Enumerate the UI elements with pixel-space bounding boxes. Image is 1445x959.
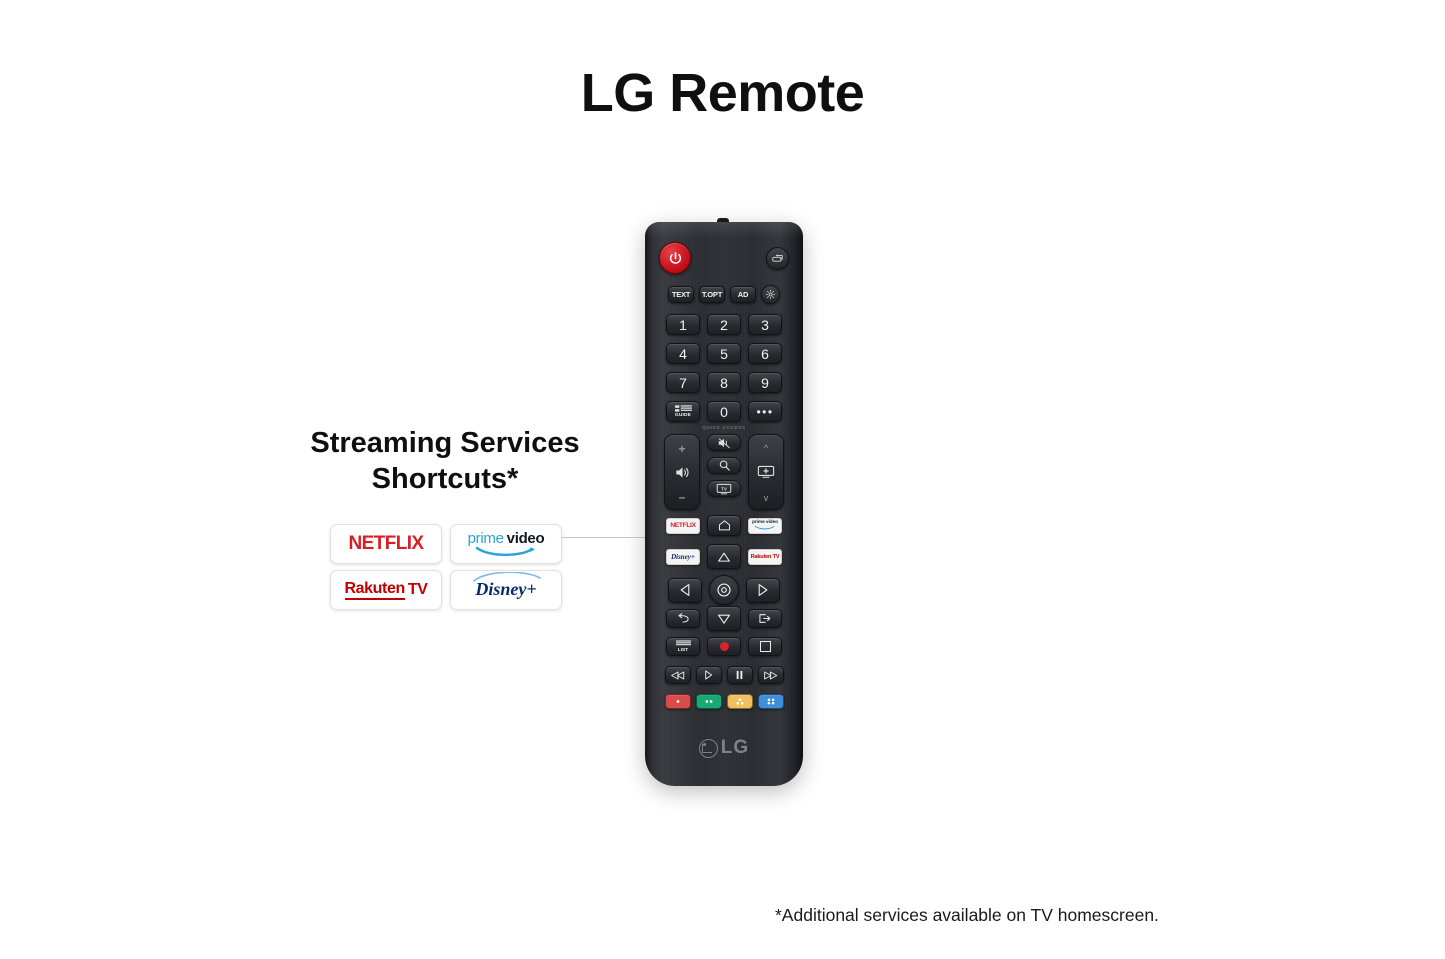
channel-tv-plus-icon [757, 465, 775, 479]
exit-button[interactable] [748, 609, 782, 628]
input-source-icon [771, 253, 784, 264]
rakuten-tv-word: TV [408, 581, 428, 599]
connector-line [561, 537, 649, 538]
channel-down-chevron-icon: v [764, 493, 769, 503]
volume-down-label: – [679, 490, 686, 504]
one-dot-icon [671, 697, 685, 706]
red-button[interactable] [665, 694, 691, 709]
nav-left-button[interactable] [668, 578, 702, 603]
two-dot-icon [702, 697, 716, 706]
guide-icon [675, 405, 692, 412]
lg-brandmark: LG [645, 737, 803, 759]
page-title: LG Remote [0, 62, 1445, 124]
pause-button[interactable] [727, 666, 753, 684]
digit-0[interactable]: 0 [707, 401, 741, 422]
list-label: LIST [678, 648, 688, 653]
ad-button[interactable]: AD [730, 286, 756, 303]
amazon-smile-icon [475, 546, 537, 557]
svg-text:TV: TV [721, 486, 728, 491]
nav-down-button[interactable] [707, 606, 741, 631]
home-button[interactable] [707, 515, 741, 536]
record-button[interactable] [707, 637, 741, 656]
digit-5[interactable]: 5 [707, 343, 741, 364]
prime-video-wordmark: prime video [468, 531, 545, 557]
pause-icon [735, 670, 744, 680]
annotation-heading: Streaming Services Shortcuts* [300, 425, 590, 498]
blue-button[interactable] [758, 694, 784, 709]
topt-button[interactable]: T.OPT [699, 286, 725, 303]
mute-icon [717, 437, 731, 449]
disney-plus-shortcut[interactable]: Disney+ [666, 549, 700, 565]
list-icon [676, 640, 691, 647]
lg-remote-body: TEXT T.OPT AD 1 2 3 4 5 6 7 8 9 [645, 222, 803, 786]
rakuten-word: Rakuten [345, 580, 405, 600]
nav-up-button[interactable] [707, 544, 741, 569]
tv-icon: TV [716, 483, 732, 495]
power-button[interactable] [659, 242, 691, 274]
lg-face-icon [699, 739, 718, 758]
digit-3[interactable]: 3 [748, 314, 782, 335]
stop-square-icon [760, 641, 771, 652]
ok-ring-icon [716, 582, 732, 598]
mute-button[interactable] [707, 434, 741, 451]
logo-box-netflix[interactable]: NETFLIX [330, 524, 442, 564]
rakuten-tv-shortcut-label: Rakuten TV [751, 554, 780, 560]
digit-7[interactable]: 7 [666, 372, 700, 393]
play-icon [704, 670, 713, 680]
digit-9[interactable]: 9 [748, 372, 782, 393]
stop-button[interactable] [748, 637, 782, 656]
amazon-smile-icon [754, 525, 776, 530]
digit-4[interactable]: 4 [666, 343, 700, 364]
gear-icon [765, 289, 776, 300]
netflix-shortcut[interactable]: NETFLIX [666, 518, 700, 534]
record-dot-icon [720, 642, 729, 651]
tv-guide-button[interactable]: TV [707, 480, 741, 497]
exit-icon [758, 613, 772, 624]
footnote-text: *Additional services available on TV hom… [775, 905, 1159, 926]
speaker-icon [674, 465, 691, 480]
fast-forward-button[interactable] [758, 666, 784, 684]
three-dot-icon [733, 697, 747, 706]
quick-access-label: QUICK ACCESS [645, 425, 803, 430]
play-button[interactable] [696, 666, 722, 684]
list-button[interactable]: LIST [666, 637, 700, 656]
disney-arc-icon [472, 572, 546, 582]
fast-forward-icon [764, 671, 778, 680]
text-button[interactable]: TEXT [668, 286, 694, 303]
triangle-right-icon [757, 583, 769, 597]
back-arrow-icon [676, 613, 690, 624]
netflix-wordmark: NETFLIX [349, 533, 424, 555]
netflix-shortcut-label: NETFLIX [670, 522, 695, 529]
rakuten-tv-wordmark: Rakuten TV [345, 580, 428, 600]
back-button[interactable] [666, 609, 700, 628]
rewind-button[interactable] [665, 666, 691, 684]
guide-button[interactable]: GUIDE [666, 401, 700, 422]
triangle-up-icon [717, 551, 731, 563]
triangle-down-icon [717, 613, 731, 625]
video-word: video [507, 531, 545, 546]
rakuten-tv-shortcut[interactable]: Rakuten TV [748, 549, 782, 565]
triangle-left-icon [679, 583, 691, 597]
green-button[interactable] [696, 694, 722, 709]
input-button[interactable] [766, 247, 789, 270]
more-button[interactable]: ••• [748, 401, 782, 422]
logo-box-disney-plus[interactable]: Disney+ [450, 570, 562, 610]
rewind-icon [671, 671, 685, 680]
power-icon [668, 251, 683, 266]
volume-up-label: + [678, 442, 685, 456]
prime-video-shortcut[interactable]: prime video [748, 518, 782, 534]
search-icon [718, 459, 731, 472]
ok-button[interactable] [709, 575, 739, 605]
yellow-button[interactable] [727, 694, 753, 709]
prime-word: prime [468, 531, 504, 546]
digit-1[interactable]: 1 [666, 314, 700, 335]
nav-right-button[interactable] [746, 578, 780, 603]
disney-plus-shortcut-label: Disney+ [671, 553, 695, 561]
home-icon [718, 519, 731, 532]
disney-plus-wordmark: Disney+ [475, 579, 536, 599]
digit-6[interactable]: 6 [748, 343, 782, 364]
streaming-annotation: Streaming Services Shortcuts* NETFLIX pr… [300, 425, 590, 610]
settings-button[interactable] [761, 285, 780, 304]
digit-8[interactable]: 8 [707, 372, 741, 393]
digit-2[interactable]: 2 [707, 314, 741, 335]
streaming-logo-grid: NETFLIX prime video Rakuten TV [330, 524, 600, 610]
channel-rocker[interactable]: ^ v [748, 434, 784, 510]
lg-wordmark: LG [721, 737, 749, 759]
channel-up-chevron-icon: ^ [764, 443, 768, 453]
logo-box-prime-video[interactable]: prime video [450, 524, 562, 564]
logo-box-rakuten-tv[interactable]: Rakuten TV [330, 570, 442, 610]
four-dot-icon [764, 697, 778, 706]
search-button[interactable] [707, 457, 741, 474]
volume-rocker[interactable]: + – [664, 434, 700, 510]
guide-label: GUIDE [675, 413, 691, 418]
